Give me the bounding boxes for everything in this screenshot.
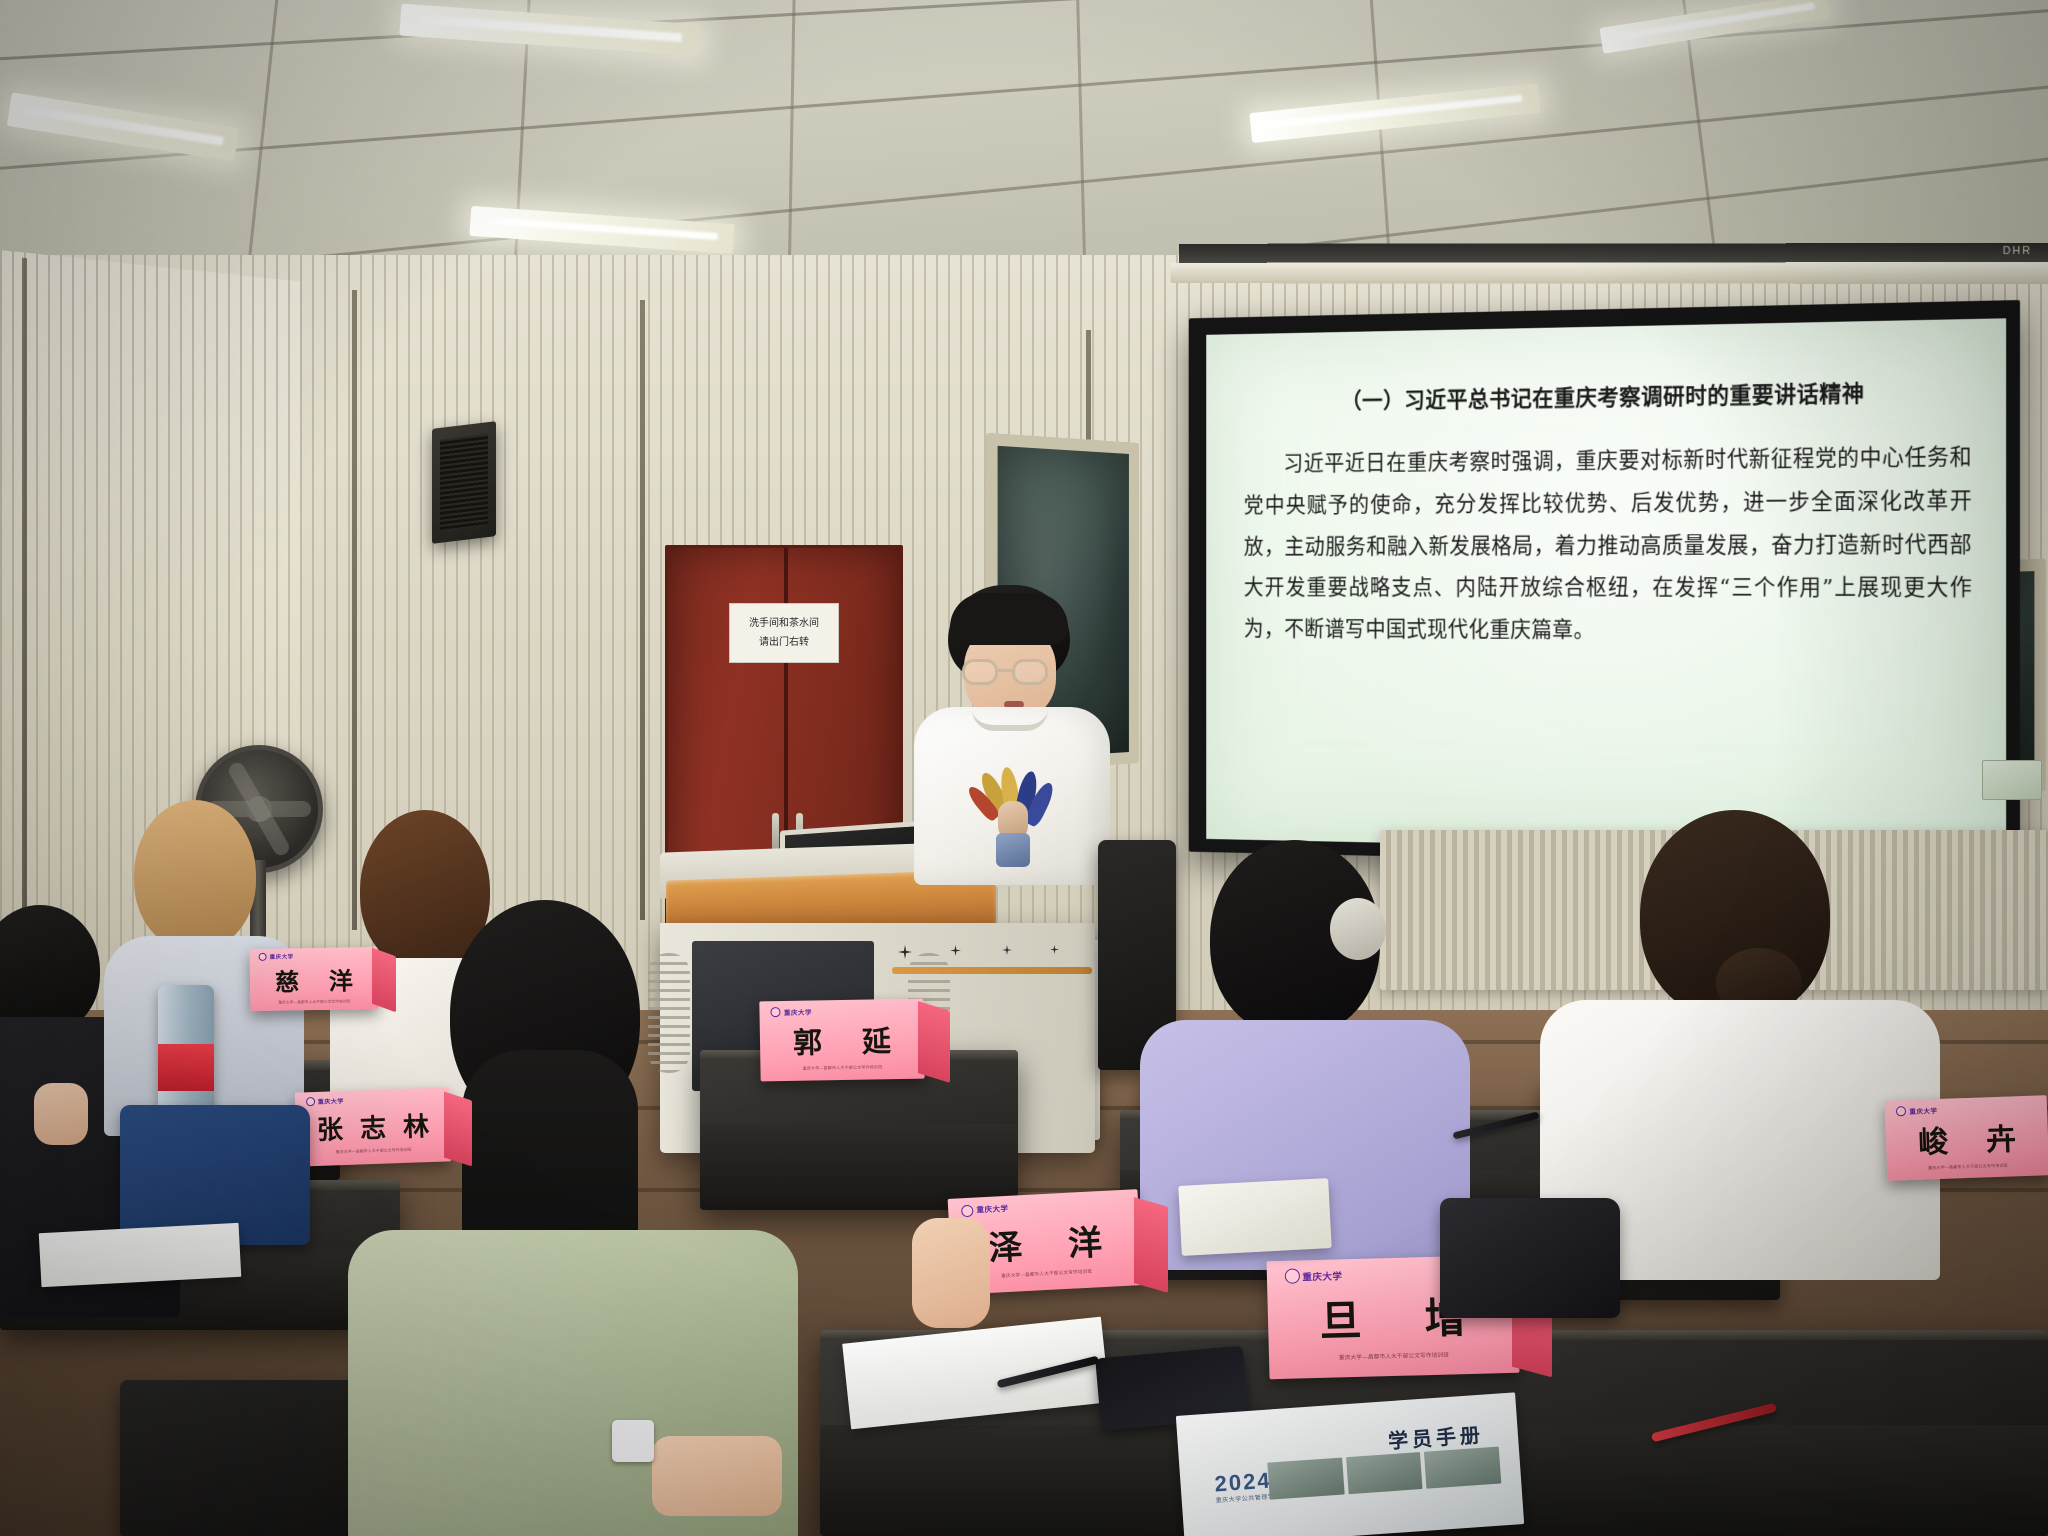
placard-name: 郭延: [773, 1017, 911, 1061]
placard-subtitle: 重庆大学—昌都市人大干部公文写作培训班: [336, 1147, 412, 1156]
door-sign-line-2: 请出门右转: [734, 633, 834, 652]
attendee-clasped-hands: [652, 1436, 782, 1516]
presenter-glasses-bridge: [998, 669, 1014, 672]
placard-yang-fold: [1134, 1197, 1168, 1293]
placard-subtitle: 重庆大学—昌都市人大干部公文写作培训班: [1001, 1268, 1092, 1279]
placard-name: 张志林: [308, 1106, 439, 1147]
wall-seam-left: [22, 258, 27, 959]
student-handbook[interactable]: 学员手册 2024 重庆大学公共管理学院 · 培训中心: [1176, 1392, 1524, 1536]
attendee-hair-clip: [1330, 898, 1386, 960]
presenter-collar: [972, 709, 1048, 731]
placard-university-name: 重庆大学: [784, 1006, 812, 1016]
papers-left-desk[interactable]: [39, 1223, 242, 1287]
placard-university-name: 重庆大学: [318, 1096, 344, 1106]
presenter-glasses-right: [1012, 659, 1048, 685]
wall-shelf-green-box: [1982, 760, 2042, 800]
wall-speaker: [432, 421, 496, 544]
placard-name: 慈洋: [260, 961, 368, 998]
placard-university-logo: 重庆大学: [771, 1006, 812, 1017]
water-bottle-desk[interactable]: [158, 985, 214, 1125]
placard-subtitle: 重庆大学—昌都市人大干部公文写作培训班: [1928, 1162, 2008, 1171]
placard-university-logo: 重庆大学: [961, 1203, 1009, 1217]
classroom-scene: DHR （一）习近平总书记在重庆考察调研时的重要讲话精神 习近平近日在重庆考察时…: [0, 0, 2048, 1536]
placard-subtitle: 重庆大学—昌都市人大干部公文写作培训班: [803, 1064, 883, 1071]
attendee-center-green: [340, 900, 810, 1536]
slide-content: （一）习近平总书记在重庆考察调研时的重要讲话精神 习近平近日在重庆考察时强调，重…: [1244, 373, 1972, 823]
placard-university-name: 重庆大学: [976, 1203, 1009, 1216]
placard-university-name: 重庆大学: [1302, 1268, 1342, 1283]
placard-university-logo: 重庆大学: [306, 1096, 344, 1106]
attendee-hand: [34, 1083, 88, 1145]
placard-zhangzhilin: 重庆大学 张志林 重庆大学—昌都市人大干部公文写作培训班: [295, 1087, 451, 1166]
presenter-tshirt-graphic: [974, 771, 1052, 867]
placard-university-logo: 重庆大学: [1896, 1105, 1937, 1116]
attendee-wristwatch: [612, 1420, 654, 1462]
door-sign-line-1: 洗手间和茶水间: [734, 614, 834, 633]
wall-seam-right: [640, 300, 645, 920]
placard-zhangzhilin-fold: [444, 1091, 472, 1166]
placard-guoyan-fold: [918, 1001, 950, 1083]
presenter: [900, 585, 1120, 885]
projector-screen-housing: [1171, 262, 2048, 284]
placard-ciyang-fold: [372, 948, 396, 1013]
placard-university-name: 重庆大学: [269, 953, 293, 961]
handbook-cover-photos: [1268, 1446, 1501, 1499]
restroom-direction-sign: 洗手间和茶水间 请出门右转: [729, 603, 839, 663]
placard-guoyan: 重庆大学 郭延 重庆大学—昌都市人大干部公文写作培训班: [759, 999, 924, 1082]
placard-ciyang: 重庆大学 慈洋 重庆大学—昌都市人大干部公文写作培训班: [249, 947, 378, 1011]
projection-screen: （一）习近平总书记在重庆考察调研时的重要讲话精神 习近平近日在重庆考察时强调，重…: [1189, 300, 2020, 870]
placard-university-logo: 重庆大学: [258, 953, 293, 962]
presenter-fringe: [950, 593, 1068, 645]
lectern-gold-stripe: [892, 967, 1092, 974]
projection-surface: （一）习近平总书记在重庆考察调研时的重要讲话精神 习近平近日在重庆考察时强调，重…: [1206, 318, 2006, 855]
placard-subtitle: 重庆大学—昌都市人大干部公文写作培训班: [278, 999, 350, 1005]
placard-junhui: 重庆大学 峻卉 重庆大学—昌都市人大干部公文写作培训班: [1885, 1095, 2048, 1181]
attendee-hand-holding-placard: [912, 1218, 990, 1328]
presenter-glasses-left: [962, 659, 998, 685]
slide-body-text: 习近平近日在重庆考察时强调，重庆要对标新时代新征程党的中心任务和党中央赋予的使命…: [1244, 436, 1972, 655]
placard-name: 峻卉: [1898, 1113, 2036, 1162]
paper-stack-right: [1178, 1178, 1331, 1256]
attendee-head: [0, 905, 100, 1035]
slide-heading: （一）习近平总书记在重庆考察调研时的重要讲话精神: [1244, 373, 1972, 417]
placard-university-name: 重庆大学: [1909, 1105, 1937, 1116]
backpack-center: [1440, 1198, 1620, 1318]
attendee-head: [134, 800, 256, 950]
lectern-star-decoration: [898, 945, 1088, 961]
projector-brand-label: DHR: [2003, 245, 2032, 257]
placard-subtitle: 重庆大学—昌都市人大干部公文写作培训班: [1339, 1351, 1449, 1362]
placard-university-logo: 重庆大学: [1284, 1268, 1342, 1285]
water-bottle-label: [158, 1044, 214, 1092]
